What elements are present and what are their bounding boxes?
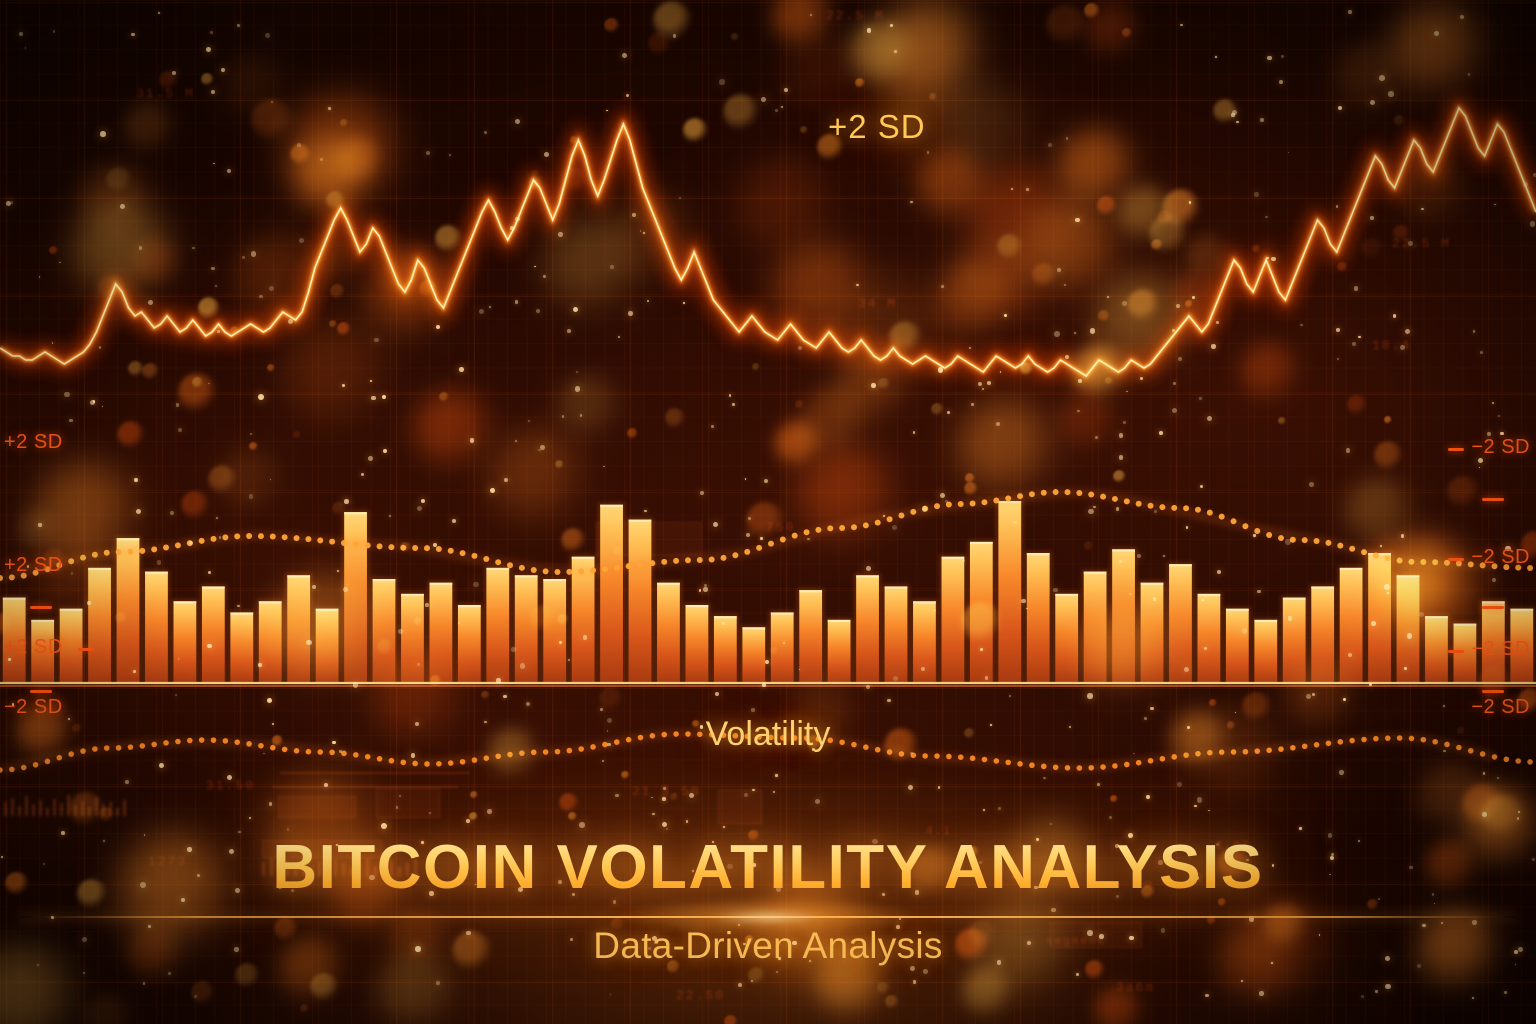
poster-canvas: 22.5 M 31.5 M 22.5 M 18.4 750 34 M 31.50… (0, 0, 1536, 1024)
vignette (0, 0, 1536, 1024)
